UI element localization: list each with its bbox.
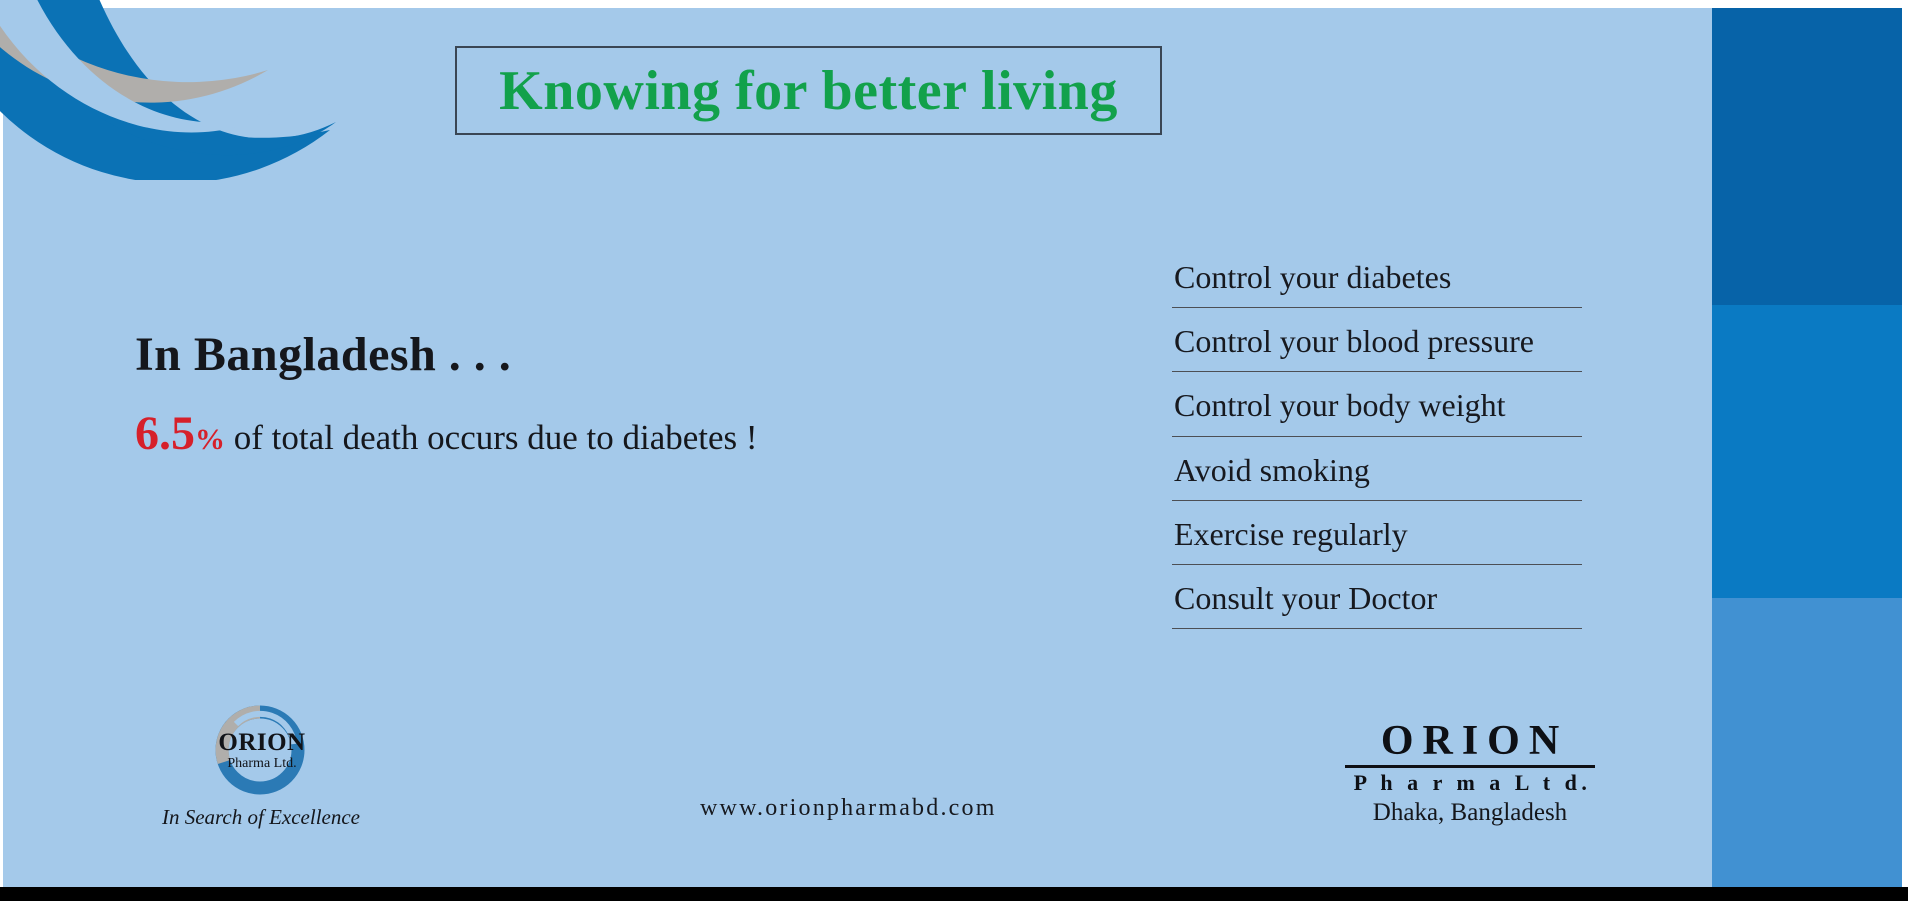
advice-item-blood-pressure: Control your blood pressure [1172, 319, 1582, 372]
website-url[interactable]: www.orionpharmabd.com [700, 795, 997, 822]
statement-stat-line: 6.5% of total death occurs due to diabet… [135, 408, 895, 461]
orion-logo-wordmark: ORION Pharma Ltd. [210, 730, 314, 773]
statement-heading: In Bangladesh . . . [135, 330, 895, 380]
bars-left-gap [1700, 8, 1712, 887]
orion-logo-subtitle: Pharma Ltd. [210, 756, 314, 773]
title-box: Knowing for better living [455, 46, 1162, 135]
orion-logo-tagline: In Search of Excellence [116, 805, 406, 830]
color-bar-2 [1712, 305, 1908, 598]
orion-right-divider [1345, 765, 1595, 768]
color-bar-1 [1712, 8, 1908, 305]
color-bar-3 [1712, 598, 1908, 887]
slide-canvas: Knowing for better living In Bangladesh … [0, 0, 1908, 901]
orion-right-city: Dhaka, Bangladesh [1345, 797, 1595, 828]
orion-right-subtitle: P h a r m a L t d. [1345, 770, 1595, 795]
left-edge-strip [0, 8, 3, 887]
statement-block: In Bangladesh . . . 6.5% of total death … [135, 330, 895, 461]
advice-item-body-weight: Control your body weight [1172, 383, 1582, 436]
orion-logo-left: ORION Pharma Ltd. In Search of Excellenc… [138, 700, 428, 830]
page-title: Knowing for better living [499, 63, 1118, 119]
orion-logo-name: ORION [210, 730, 314, 755]
right-color-bars [1700, 8, 1908, 887]
stat-description: of total death occurs due to diabetes ! [225, 418, 758, 457]
orion-logo-right: ORION P h a r m a L t d. Dhaka, Banglade… [1345, 720, 1595, 829]
stat-number: 6.5 [135, 407, 195, 460]
advice-item-consult-doctor: Consult your Doctor [1172, 576, 1582, 629]
advice-list: Control your diabetes Control your blood… [1172, 255, 1582, 640]
advice-item-avoid-smoking: Avoid smoking [1172, 448, 1582, 501]
bottom-black-band [0, 887, 1908, 901]
orion-right-name: ORION [1345, 720, 1595, 762]
stat-percent-sign: % [195, 423, 225, 456]
advice-item-diabetes: Control your diabetes [1172, 255, 1582, 308]
bars-right-edge [1902, 8, 1908, 887]
advice-item-exercise: Exercise regularly [1172, 512, 1582, 565]
